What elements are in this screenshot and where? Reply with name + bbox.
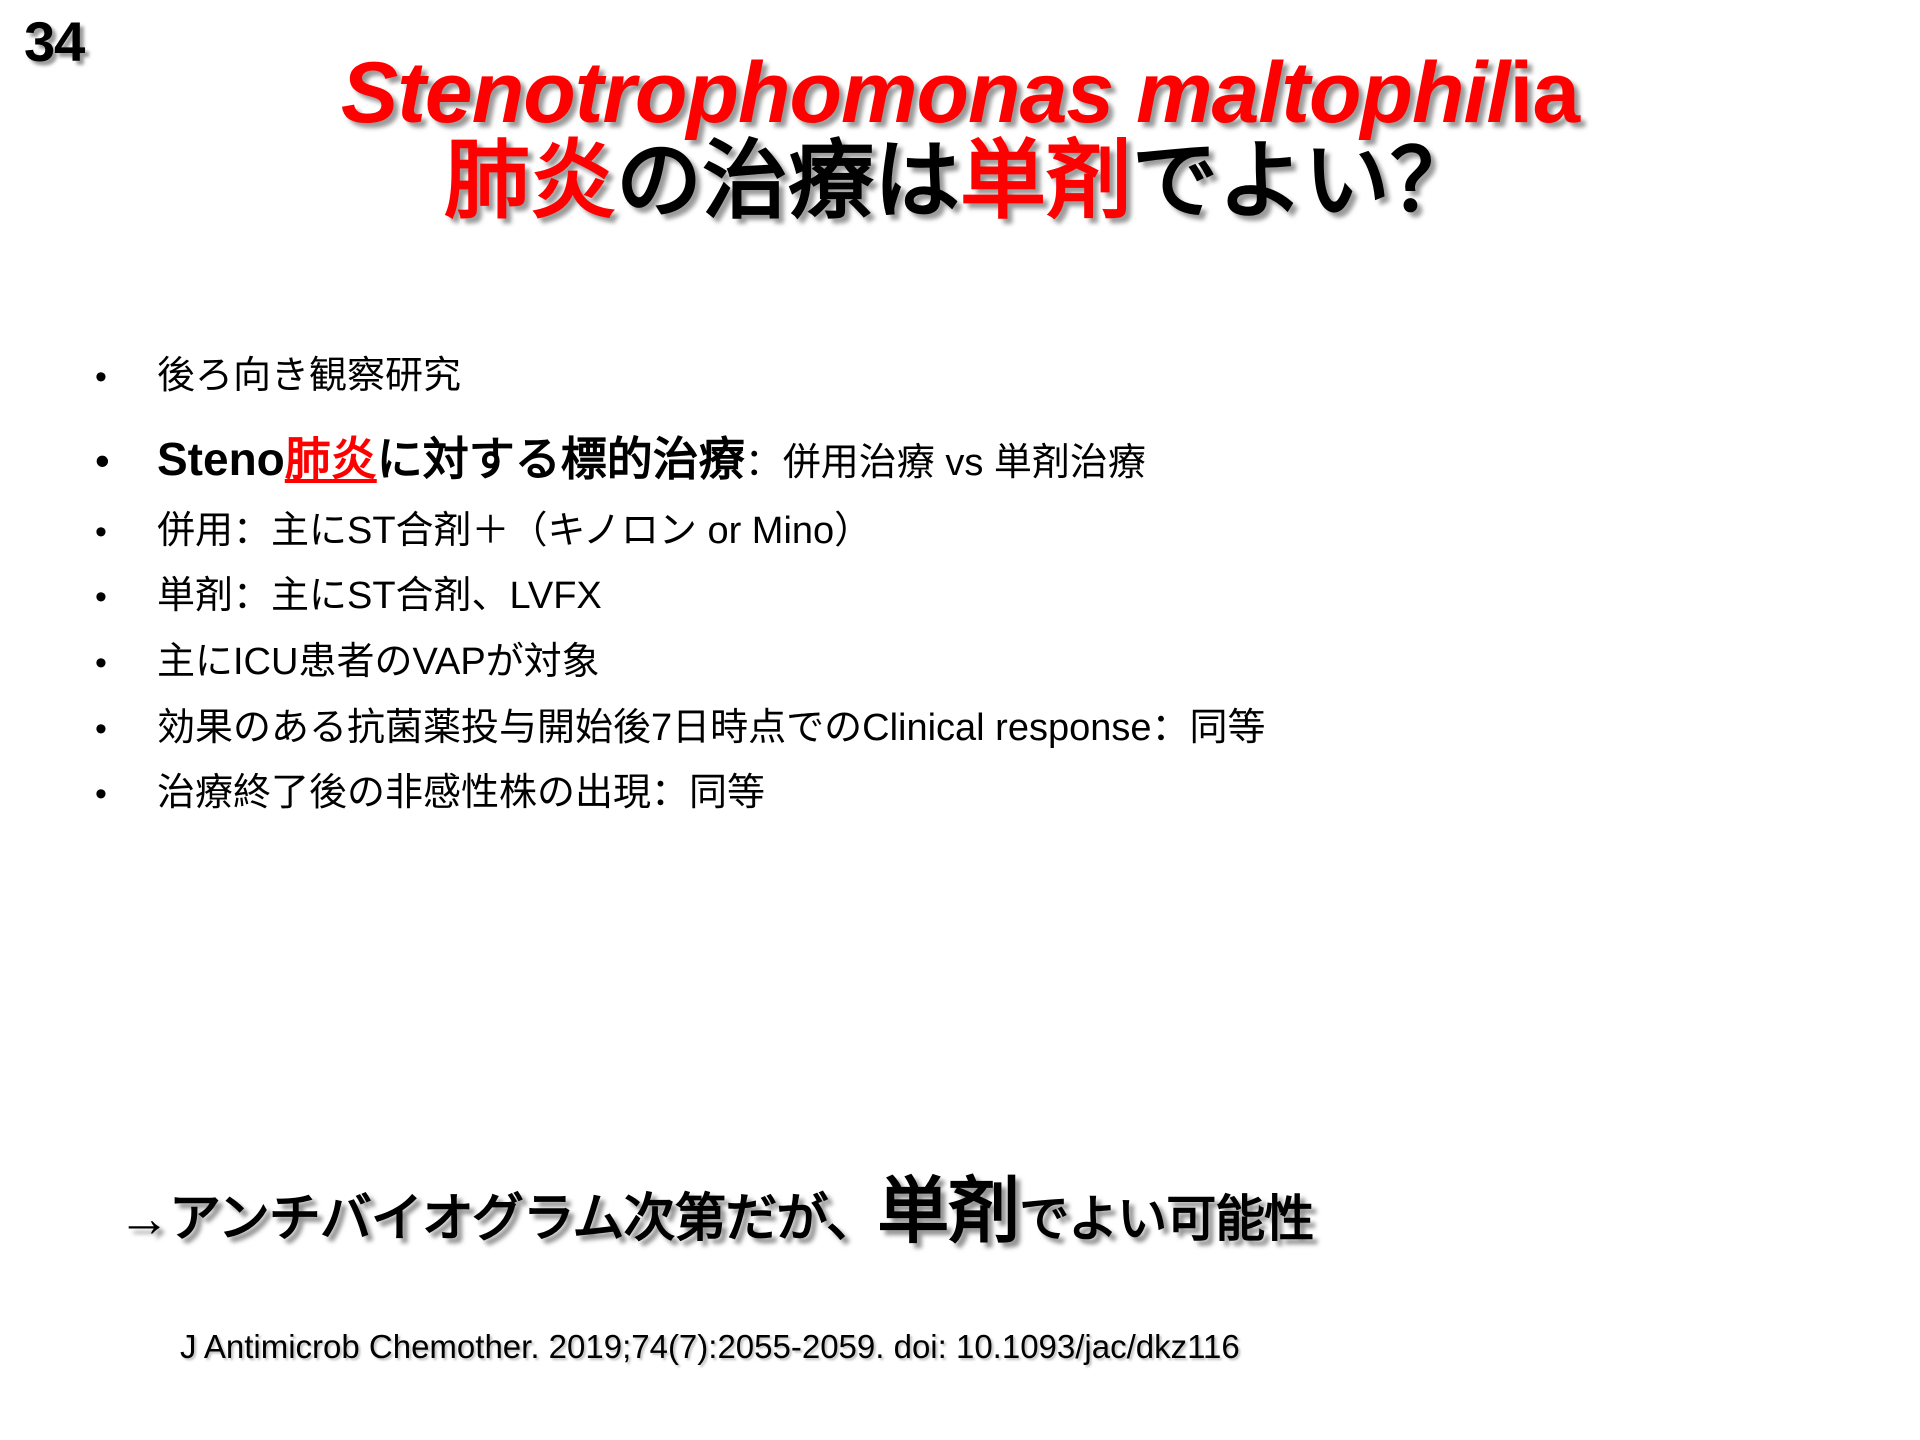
slide-canvas: 34 Stenotrophomonas maltophilia 肺炎の治療は単剤…	[0, 0, 1920, 1440]
bullet-dot-icon: •	[95, 777, 157, 811]
list-item-label: 併用：主にST合剤＋（キノロン or Mino）	[157, 510, 872, 554]
title-species-italic: Stenotrophomonas maltophil	[341, 45, 1509, 141]
conclusion-tail: でよい可能性	[1019, 1191, 1313, 1247]
title-line-question: 肺炎の治療は単剤でよい？	[0, 138, 1920, 226]
conclusion-statement: →アンチバイオグラム次第だが、単剤でよい可能性	[118, 1152, 1313, 1257]
list-item-label: 後ろ向き観察研究	[157, 355, 461, 399]
list-item-label: 効果のある抗菌薬投与開始後7日時点でのClinical response：同等	[157, 707, 1266, 751]
list-item-emphasis: • Steno肺炎に対する標的治療：併用治療 vs 単剤治療	[95, 433, 1885, 486]
list-item-label: 主にICU患者のVAPが対象	[157, 641, 600, 685]
list-item: • 効果のある抗菌薬投与開始後7日時点でのClinical response：同…	[95, 707, 1885, 751]
bullet-dot-icon: •	[95, 646, 157, 680]
title-highlight-pneumonia: 肺炎	[444, 133, 616, 229]
title-text-treatment: の治療は	[616, 133, 960, 229]
bullet-list: • 後ろ向き観察研究 • Steno肺炎に対する標的治療：併用治療 vs 単剤治…	[95, 355, 1885, 838]
slide-title: Stenotrophomonas maltophilia 肺炎の治療は単剤でよい…	[0, 50, 1920, 225]
emphasis-lead: Steno	[157, 433, 285, 485]
list-item: • 後ろ向き観察研究	[95, 355, 1885, 399]
emphasis-highlight: 肺炎	[285, 433, 377, 485]
list-item: • 主にICU患者のVAPが対象	[95, 641, 1885, 685]
bullet-dot-icon: •	[95, 580, 157, 614]
list-item: • 併用：主にST合剤＋（キノロン or Mino）	[95, 510, 1885, 554]
bullet-dot-icon: •	[95, 515, 157, 549]
bullet-dot-icon: •	[95, 360, 157, 394]
list-item: • 治療終了後の非感性株の出現：同等	[95, 772, 1885, 816]
title-highlight-monotherapy: 単剤	[960, 133, 1132, 229]
emphasis-normal-tail: ：併用治療 vs 単剤治療	[745, 442, 1146, 484]
citation-reference: J Antimicrob Chemother. 2019;74(7):2055-…	[180, 1328, 1240, 1366]
list-item-label: Steno肺炎に対する標的治療：併用治療 vs 単剤治療	[157, 433, 1146, 486]
title-line-species: Stenotrophomonas maltophilia	[0, 50, 1920, 138]
bullet-dot-icon: •	[95, 440, 157, 482]
list-item-label: 治療終了後の非感性株の出現：同等	[157, 772, 765, 816]
conclusion-keyword: 単剤	[877, 1172, 1019, 1252]
conclusion-lead: →アンチバイオグラム次第だが、	[118, 1190, 877, 1248]
bullet-dot-icon: •	[95, 712, 157, 746]
title-species-upright: ia	[1509, 45, 1579, 141]
list-item-label: 単剤：主にST合剤、LVFX	[157, 575, 602, 619]
emphasis-bold-tail: に対する標的治療	[377, 433, 745, 485]
title-text-question: でよい？	[1132, 133, 1476, 229]
list-item: • 単剤：主にST合剤、LVFX	[95, 575, 1885, 619]
